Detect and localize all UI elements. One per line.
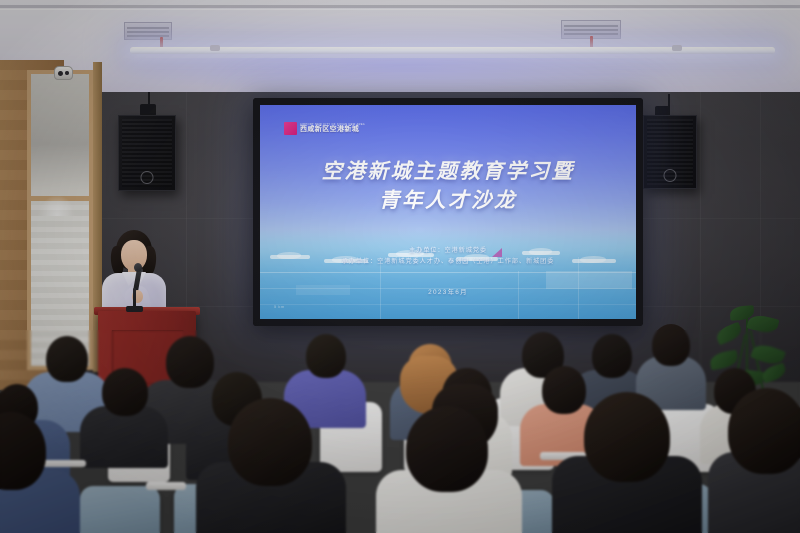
chair-armrest — [40, 460, 86, 467]
attendee-head — [228, 398, 312, 486]
logo-english-text: AIRPORT NEW CITY OF XIXIAN NEW AREA — [300, 124, 365, 127]
slide-title-line2: 青年人才沙龙 — [260, 186, 636, 215]
microphone-head-icon — [134, 263, 142, 272]
light-mount-right — [672, 45, 682, 51]
slide-title-line1: 空港新城主题教育学习暨 — [260, 157, 636, 186]
presentation-slide: AIRPORT NEW CITY OF XIXIAN NEW AREA 西咸新区… — [260, 105, 636, 319]
plant-leaf — [714, 322, 744, 346]
air-vent-left — [124, 22, 172, 40]
attendee-head — [166, 336, 214, 388]
plant-leaf — [760, 363, 787, 384]
ceiling-seam — [0, 5, 800, 8]
logo-chinese-text: 西咸新区空港新城 — [300, 126, 365, 133]
chair-front-row[interactable] — [80, 486, 160, 533]
slide-organizer-line: 主办单位：空港新城党委 — [260, 245, 636, 256]
attendee-head — [306, 334, 346, 378]
ceiling-seam-highlight — [0, 9, 800, 10]
led-video-wall[interactable]: AIRPORT NEW CITY OF XIXIAN NEW AREA 西咸新区… — [253, 98, 643, 326]
slide-date: 2023年6月 — [260, 287, 636, 296]
speaker-logo-right — [664, 169, 677, 182]
attendee-head — [102, 368, 148, 416]
wall-speaker-left — [118, 115, 176, 191]
attendee-head — [584, 392, 670, 482]
slide-subtitle: 主办单位：空港新城党委 承办单位：空港新城党委人才办、泰创园（空港）工作部、新城… — [260, 245, 636, 268]
attendee-head — [652, 324, 690, 366]
attendee-head — [406, 406, 488, 492]
attendee-head — [728, 388, 800, 474]
slide-title: 空港新城主题教育学习暨 青年人才沙龙 — [260, 157, 636, 215]
security-camera — [54, 66, 73, 80]
wall-speaker-right — [643, 115, 697, 189]
conference-room-scene: AIRPORT NEW CITY OF XIXIAN NEW AREA 西咸新区… — [0, 0, 800, 533]
logo-mark-icon — [284, 122, 297, 135]
chair-armrest — [146, 482, 186, 490]
slide-coorganizer-line: 承办单位：空港新城党委人才办、泰创园（空港）工作部、新城团委 — [260, 256, 636, 267]
organization-logo: AIRPORT NEW CITY OF XIXIAN NEW AREA 西咸新区… — [284, 122, 365, 135]
map-scale-label: 5 km — [274, 304, 285, 309]
attendee-head — [46, 336, 88, 382]
attendee-head — [592, 334, 632, 378]
light-mount-left — [210, 45, 220, 51]
speaker-logo-left — [141, 171, 154, 184]
attendee-head — [542, 366, 586, 414]
microphone-base — [126, 306, 143, 312]
